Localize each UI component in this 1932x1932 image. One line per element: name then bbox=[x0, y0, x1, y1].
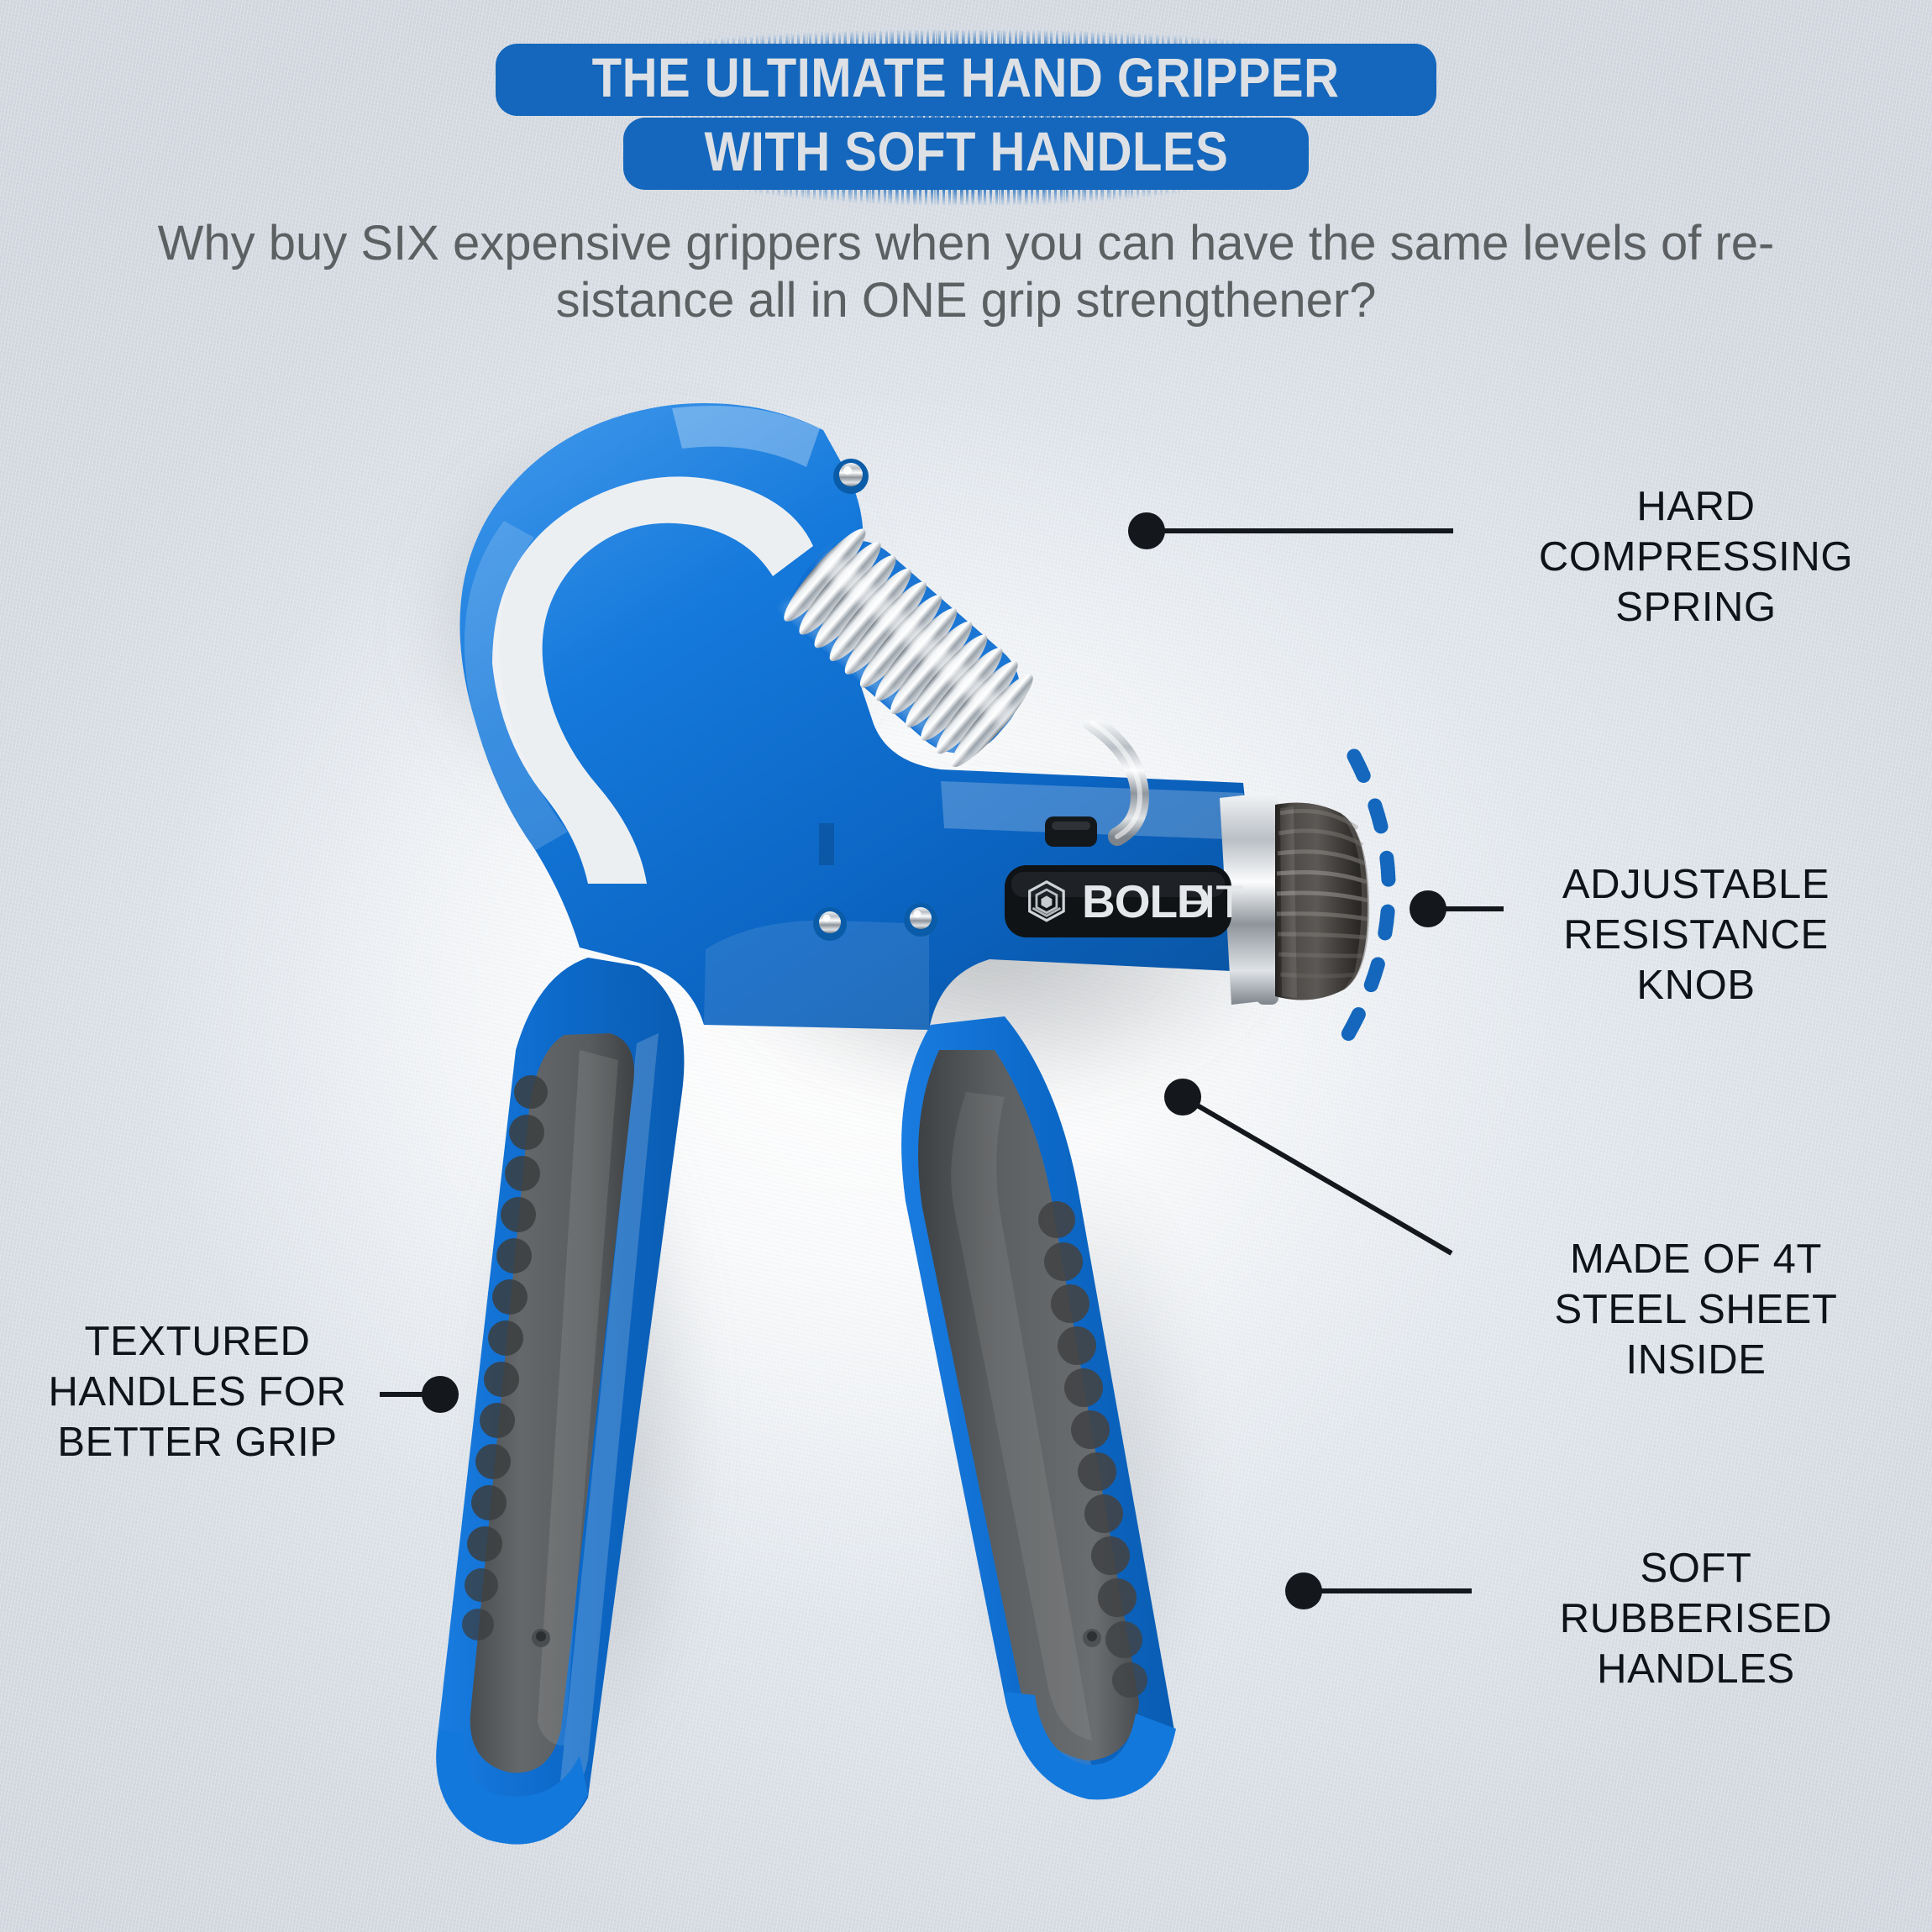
callout-line: RESISTANCE bbox=[1473, 911, 1919, 961]
callout-line: STEEL SHEET bbox=[1473, 1285, 1919, 1336]
callout-line: SPRING bbox=[1473, 583, 1919, 633]
callout-soft-rubberised-handles: SOFT RUBBERISED HANDLES bbox=[1473, 1544, 1919, 1694]
callout-made-of-4t-steel-sheet-inside: MADE OF 4T STEEL SHEET INSIDE bbox=[1473, 1235, 1919, 1385]
rivet-top bbox=[833, 459, 869, 494]
callout-hard-compressing-spring: HARD COMPRESSING SPRING bbox=[1473, 482, 1919, 633]
callout-line: HANDLES FOR bbox=[17, 1368, 378, 1418]
leader-soft-rubberised-handles bbox=[1285, 1572, 1472, 1609]
callout-line: BETTER GRIP bbox=[17, 1418, 378, 1468]
callout-adjustable-resistance-knob: ADJUSTABLE RESISTANCE KNOB bbox=[1473, 860, 1919, 1011]
leader-textured-handles-for-better-grip bbox=[380, 1376, 459, 1413]
rivet-lower-left bbox=[813, 907, 847, 941]
callout-line: HANDLES bbox=[1473, 1645, 1919, 1695]
callout-line: COMPRESSING bbox=[1473, 533, 1919, 583]
callout-line: MADE OF 4T bbox=[1473, 1235, 1919, 1285]
leader-hard-compressing-spring bbox=[1128, 512, 1453, 549]
callout-line: KNOB bbox=[1473, 961, 1919, 1011]
boldfit-brand-badge: BOLD FIT bbox=[1005, 865, 1243, 937]
leader-made-of-4t-steel-sheet-inside bbox=[1164, 1079, 1452, 1253]
callout-line: RUBBERISED bbox=[1473, 1594, 1919, 1645]
boldfit-fit-text: FIT bbox=[1176, 875, 1243, 927]
rivet-lower-right bbox=[904, 903, 937, 937]
callout-textured-handles-for-better-grip: TEXTURED HANDLES FOR BETTER GRIP bbox=[17, 1317, 378, 1467]
callout-line: SOFT bbox=[1473, 1544, 1919, 1594]
callout-line: ADJUSTABLE bbox=[1473, 860, 1919, 911]
callout-line: TEXTURED bbox=[17, 1317, 378, 1368]
callout-line: HARD bbox=[1473, 482, 1919, 533]
callout-line: INSIDE bbox=[1473, 1336, 1919, 1386]
